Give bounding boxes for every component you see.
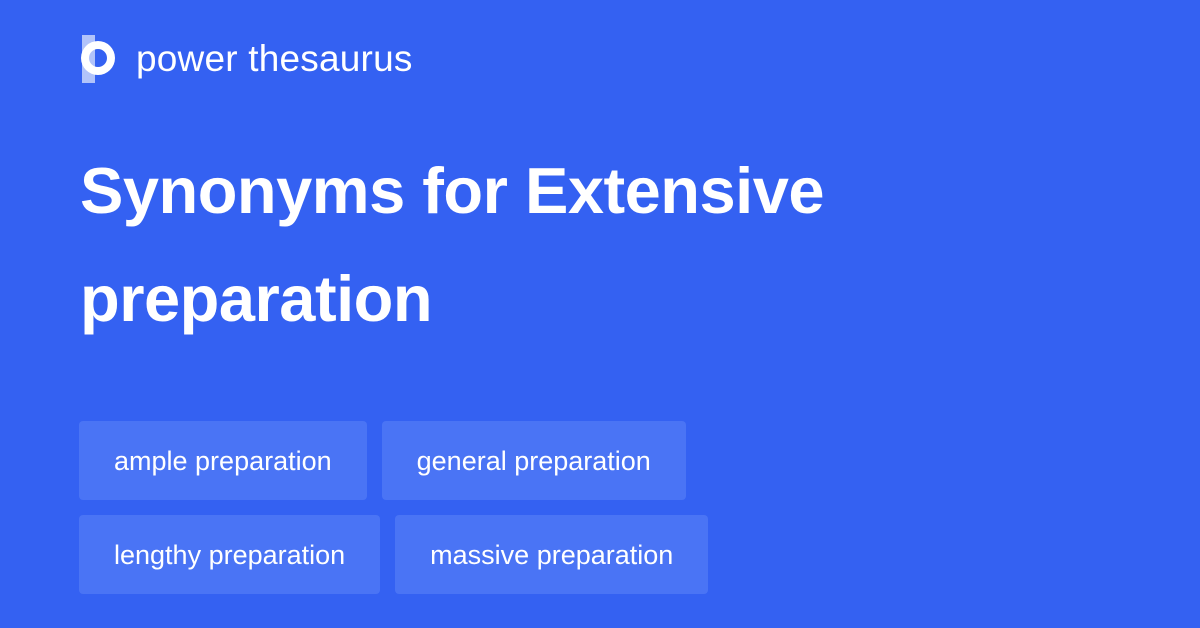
share-card: power thesaurus Synonyms for Extensive p… bbox=[0, 0, 1200, 628]
synonym-chip[interactable]: lengthy preparation bbox=[79, 515, 380, 594]
brand-name: power thesaurus bbox=[136, 38, 413, 80]
brand-logo[interactable]: power thesaurus bbox=[80, 28, 413, 90]
synonym-row: ample preparation general preparation bbox=[79, 421, 1129, 500]
synonym-chip[interactable]: general preparation bbox=[382, 421, 686, 500]
synonym-chip[interactable]: ample preparation bbox=[79, 421, 367, 500]
page-title: Synonyms for Extensive preparation bbox=[80, 137, 1080, 353]
power-thesaurus-logo-icon bbox=[80, 35, 120, 83]
synonym-row: lengthy preparation massive preparation bbox=[79, 515, 1129, 594]
synonym-list: ample preparation general preparation le… bbox=[79, 421, 1129, 594]
synonym-chip[interactable]: massive preparation bbox=[395, 515, 708, 594]
